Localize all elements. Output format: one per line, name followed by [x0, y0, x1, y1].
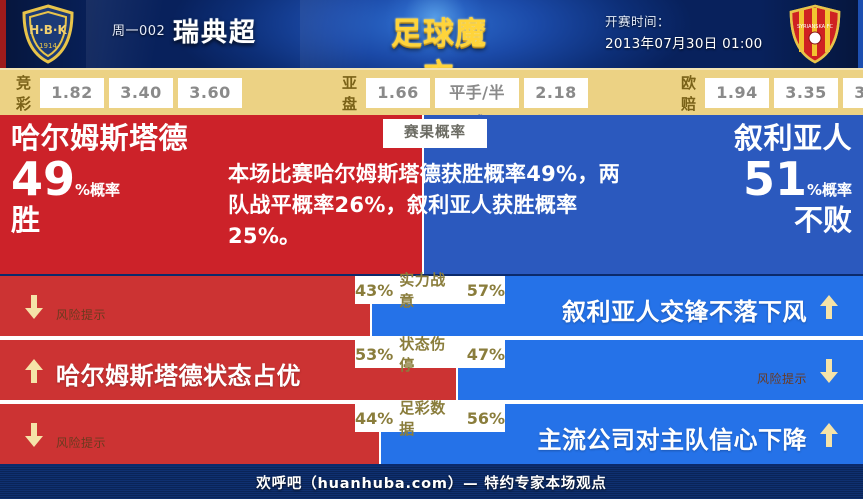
odds-value[interactable]: 1.82	[40, 78, 104, 108]
header-bar: H·B·K 1914 SYRIANSKA FC 周一002 瑞典超 足球魔方 开…	[0, 0, 863, 68]
result-probability-panel: 哈尔姆斯塔德 49%概率 胜 叙利亚人 51%概率 不败 本场比赛哈尔姆斯塔德获…	[0, 115, 863, 274]
kickoff-time-value: 2013年07月30日 01:00	[605, 32, 763, 52]
away-probability-value: 51	[743, 152, 807, 206]
away-percent: 56%	[467, 409, 505, 428]
arrow-up-icon	[817, 422, 841, 448]
odds-value[interactable]: 3.60	[178, 78, 242, 108]
footer-text: 欢呼吧（huanhuba.com）— 特约专家本场观点	[256, 472, 606, 493]
odds-group-title: 亚盘	[342, 72, 358, 114]
league-name: 瑞典超	[173, 12, 257, 49]
kickoff-time-label: 开赛时间：	[605, 11, 670, 30]
arrow-down-icon	[22, 294, 46, 320]
home-percent: 43%	[355, 281, 393, 300]
home-team-crest-icon: H·B·K 1914	[18, 4, 78, 64]
odds-group-title: 竞彩	[16, 72, 32, 114]
home-probability-suffix: %概率	[75, 181, 120, 199]
away-team-block: 叙利亚人 51%概率 不败	[632, 121, 852, 237]
odds-group-oupei: 欧赔 1.94 3.35 3.66	[681, 72, 863, 114]
home-team-name: 哈尔姆斯塔德	[11, 121, 226, 155]
comparison-row: 风险提示 43% 实力战意 57% 叙利亚人交锋不落下风	[0, 276, 863, 336]
match-preview-infographic: H·B·K 1914 SYRIANSKA FC 周一002 瑞典超 足球魔方 开…	[0, 0, 863, 499]
odds-group-title: 欧赔	[681, 72, 697, 114]
odds-group-jingcai: 竞彩 1.82 3.40 3.60	[16, 72, 247, 114]
away-probability-suffix: %概率	[807, 181, 852, 199]
row-category-badge: 44% 足彩数据 56%	[355, 404, 505, 432]
category-name: 足彩数据	[399, 397, 460, 439]
header-right-edge	[858, 0, 863, 68]
home-percent: 44%	[355, 409, 393, 428]
away-team-crest-icon: SYRIANSKA FC	[786, 4, 844, 64]
arrow-down-icon	[22, 422, 46, 448]
header-left-edge	[0, 0, 6, 68]
home-outcome-label: 胜	[11, 203, 226, 237]
arrow-down-icon	[817, 358, 841, 384]
away-percent: 57%	[467, 281, 505, 300]
away-message: 主流公司对主队信心下降	[538, 420, 808, 455]
home-percent: 53%	[355, 345, 393, 364]
comparison-row: 哈尔姆斯塔德状态占优 53% 状态伤停 47% 风险提示	[0, 340, 863, 400]
odds-value[interactable]: 3.40	[109, 78, 173, 108]
panel-tab-label: 赛果概率	[383, 119, 487, 148]
brand-logo-text: 足球魔方	[381, 13, 497, 55]
category-name: 状态伤停	[399, 333, 460, 375]
odds-value[interactable]: 1.94	[705, 78, 769, 108]
home-message: 哈尔姆斯塔德状态占优	[56, 356, 301, 391]
comparison-row: 风险提示 44% 足彩数据 56% 主流公司对主队信心下降	[0, 404, 863, 464]
odds-value[interactable]: 2.18	[524, 78, 588, 108]
away-message: 叙利亚人交锋不落下风	[562, 292, 807, 327]
arrow-up-icon	[22, 358, 46, 384]
row-category-badge: 43% 实力战意 57%	[355, 276, 505, 304]
category-name: 实力战意	[399, 269, 460, 311]
odds-bar: 竞彩 1.82 3.40 3.60 亚盘 1.66 平手/半球 2.18 欧赔 …	[0, 68, 863, 115]
arrow-up-icon	[817, 294, 841, 320]
match-number-label: 周一002	[112, 20, 165, 39]
home-risk-label: 风险提示	[56, 306, 106, 323]
away-percent: 47%	[467, 345, 505, 364]
away-risk-label: 风险提示	[757, 370, 807, 387]
home-team-block: 哈尔姆斯塔德 49%概率 胜	[11, 121, 226, 237]
odds-value[interactable]: 3.66	[843, 78, 863, 108]
home-risk-label: 风险提示	[56, 434, 106, 451]
odds-handicap-value[interactable]: 平手/半球	[435, 78, 519, 108]
home-probability-value: 49	[11, 152, 75, 206]
svg-text:1914: 1914	[39, 42, 57, 50]
odds-value[interactable]: 1.66	[366, 78, 430, 108]
svg-text:SYRIANSKA FC: SYRIANSKA FC	[797, 24, 834, 30]
footer-bar: 欢呼吧（huanhuba.com）— 特约专家本场观点	[0, 466, 863, 499]
away-team-name: 叙利亚人	[632, 121, 852, 155]
svg-text:H·B·K: H·B·K	[29, 23, 67, 37]
odds-group-yapan: 亚盘 1.66 平手/半球 2.18	[342, 72, 593, 114]
odds-value[interactable]: 3.35	[774, 78, 838, 108]
probability-summary-text: 本场比赛哈尔姆斯塔德获胜概率49%，两队战平概率26%，叙利亚人获胜概率25%。	[228, 159, 628, 252]
away-outcome-label: 不败	[632, 203, 852, 237]
row-category-badge: 53% 状态伤停 47%	[355, 340, 505, 368]
